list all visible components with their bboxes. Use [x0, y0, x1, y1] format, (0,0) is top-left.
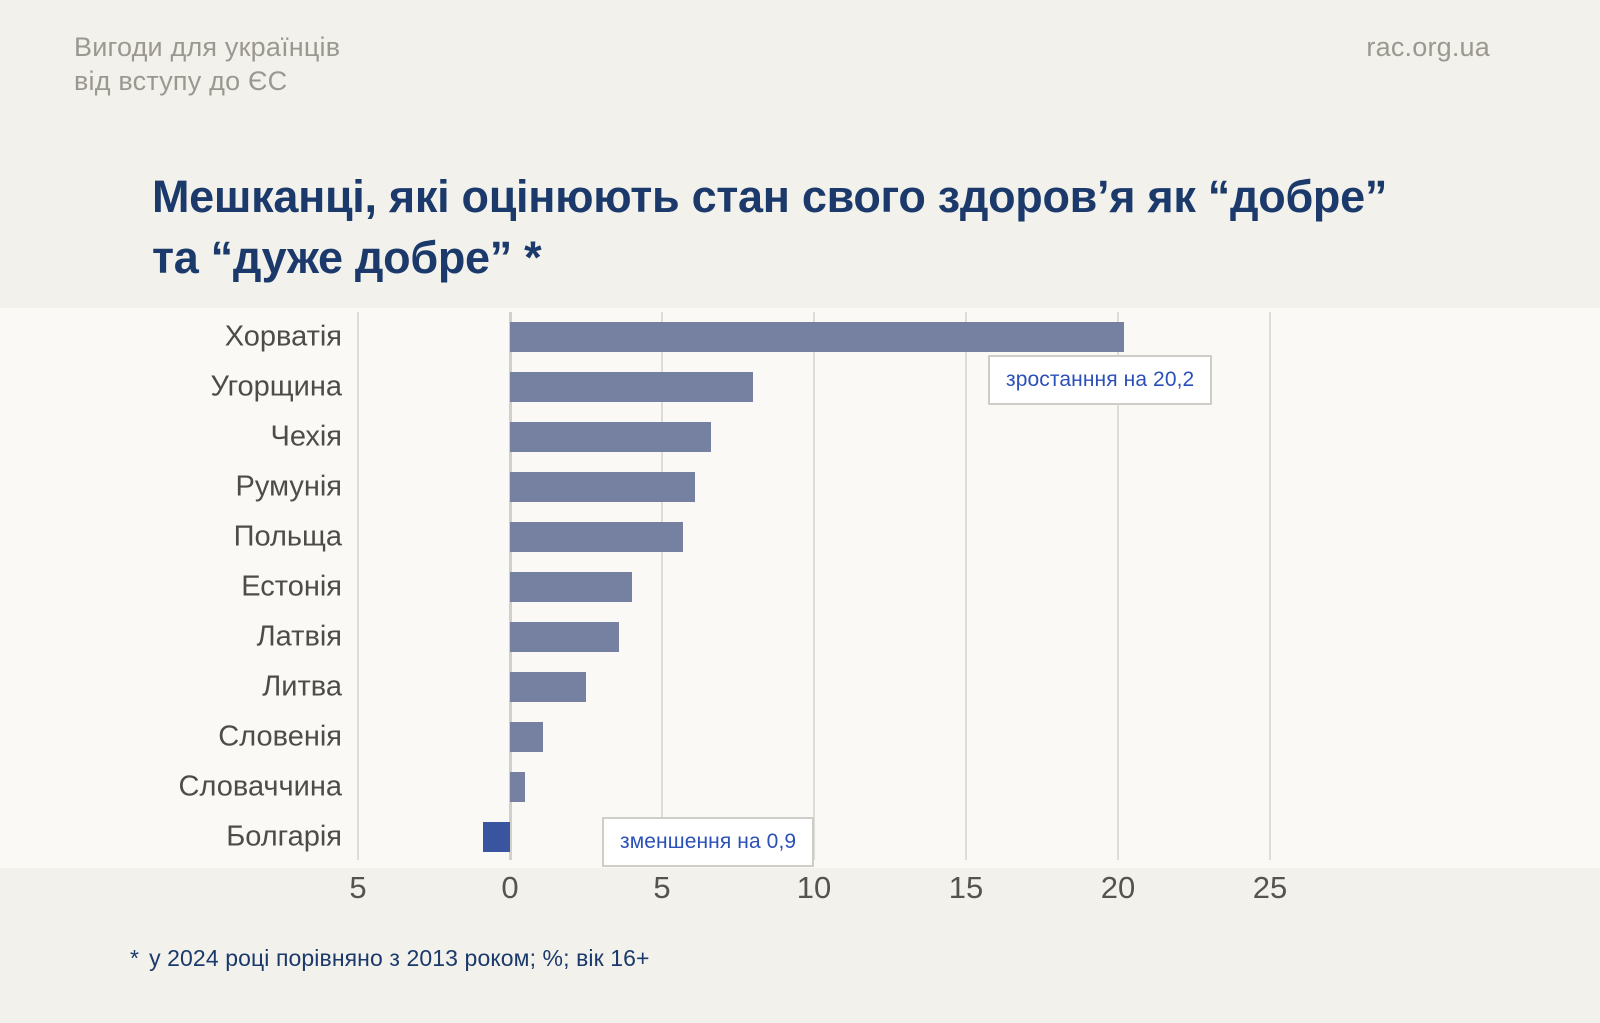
category-label-10: Болгарія	[226, 821, 342, 854]
chart-row: Румунія	[0, 462, 1600, 512]
footnote-marker: *	[130, 945, 139, 971]
category-label-2: Чехія	[271, 421, 342, 454]
category-label-9: Словаччина	[179, 771, 342, 804]
bar-5	[510, 572, 632, 602]
footnote-text: у 2024 році порівняно з 2013 роком; %; в…	[149, 945, 650, 971]
chart-row: Словаччина	[0, 762, 1600, 812]
bar-9	[510, 772, 525, 802]
category-label-6: Латвія	[257, 621, 342, 654]
chart-row: Угорщина	[0, 362, 1600, 412]
chart-row: Латвія	[0, 612, 1600, 662]
chart-row: Словенія	[0, 712, 1600, 762]
category-label-1: Угорщина	[210, 371, 342, 404]
category-label-4: Польща	[234, 521, 342, 554]
category-label-7: Литва	[262, 671, 342, 704]
chart-title: Мешканці, які оцінюють стан свого здоров…	[152, 166, 1412, 288]
bar-8	[510, 722, 543, 752]
chart-row: Литва	[0, 662, 1600, 712]
callout-decline: зменшення на 0,9	[602, 817, 814, 867]
chart-row: Польща	[0, 512, 1600, 562]
chart-row: Хорватія	[0, 312, 1600, 362]
chart-row: Естонія	[0, 562, 1600, 612]
bar-3	[510, 472, 695, 502]
category-label-0: Хорватія	[225, 321, 342, 354]
bar-0	[510, 322, 1124, 352]
bar-2	[510, 422, 711, 452]
page-header: Вигоди для українців від вступу до ЄС ra…	[0, 0, 1600, 120]
callout-growth: зростанння на 20,2	[988, 355, 1212, 405]
bar-7	[510, 672, 586, 702]
category-label-3: Румунія	[236, 471, 342, 504]
bar-1	[510, 372, 753, 402]
category-label-8: Словенія	[218, 721, 342, 754]
bar-10	[483, 822, 510, 852]
bar-4	[510, 522, 683, 552]
bar-6	[510, 622, 619, 652]
brand-tagline: Вигоди для українців від вступу до ЄС	[74, 30, 340, 98]
chart-row: Чехія	[0, 412, 1600, 462]
footnote: *у 2024 році порівняно з 2013 роком; %; …	[130, 945, 650, 972]
site-url: rac.org.ua	[1366, 32, 1490, 63]
category-label-5: Естонія	[241, 571, 342, 604]
